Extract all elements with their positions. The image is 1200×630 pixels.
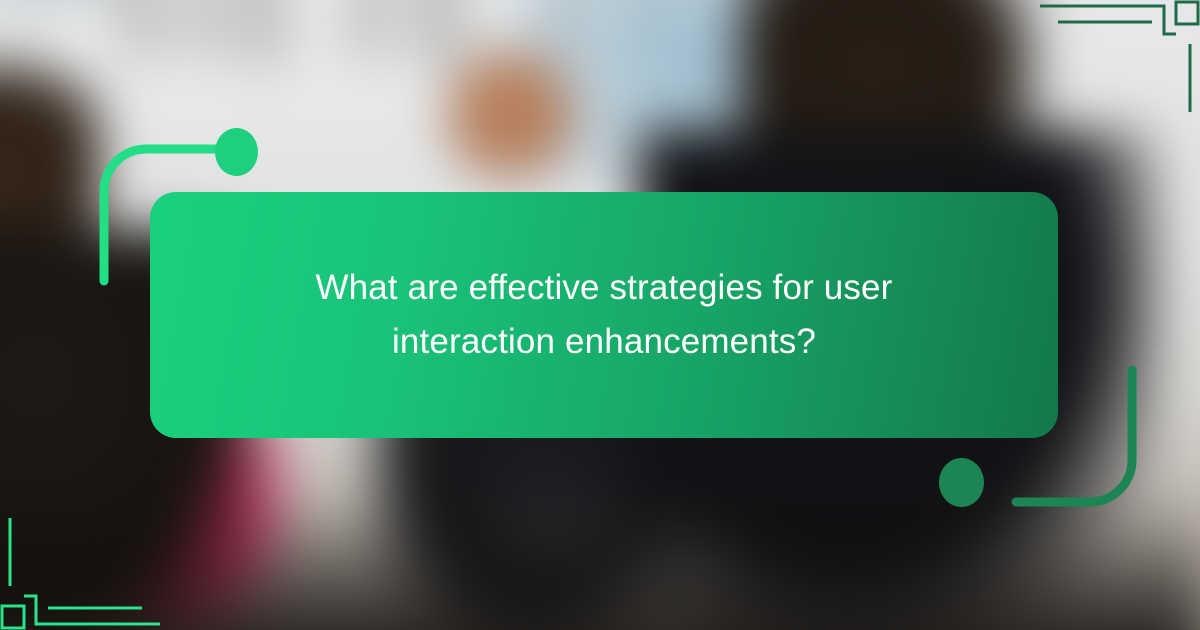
- question-text: What are effective strategies for user i…: [274, 261, 934, 370]
- circuit-decoration-bottom-left: [0, 510, 160, 630]
- question-card: What are effective strategies for user i…: [150, 192, 1058, 438]
- accent-dot-top-left: [215, 128, 258, 176]
- promo-card-canvas: What are effective strategies for user i…: [0, 0, 1200, 630]
- circuit-decoration-top-right: [1040, 0, 1200, 120]
- accent-dot-bottom-right: [939, 458, 984, 507]
